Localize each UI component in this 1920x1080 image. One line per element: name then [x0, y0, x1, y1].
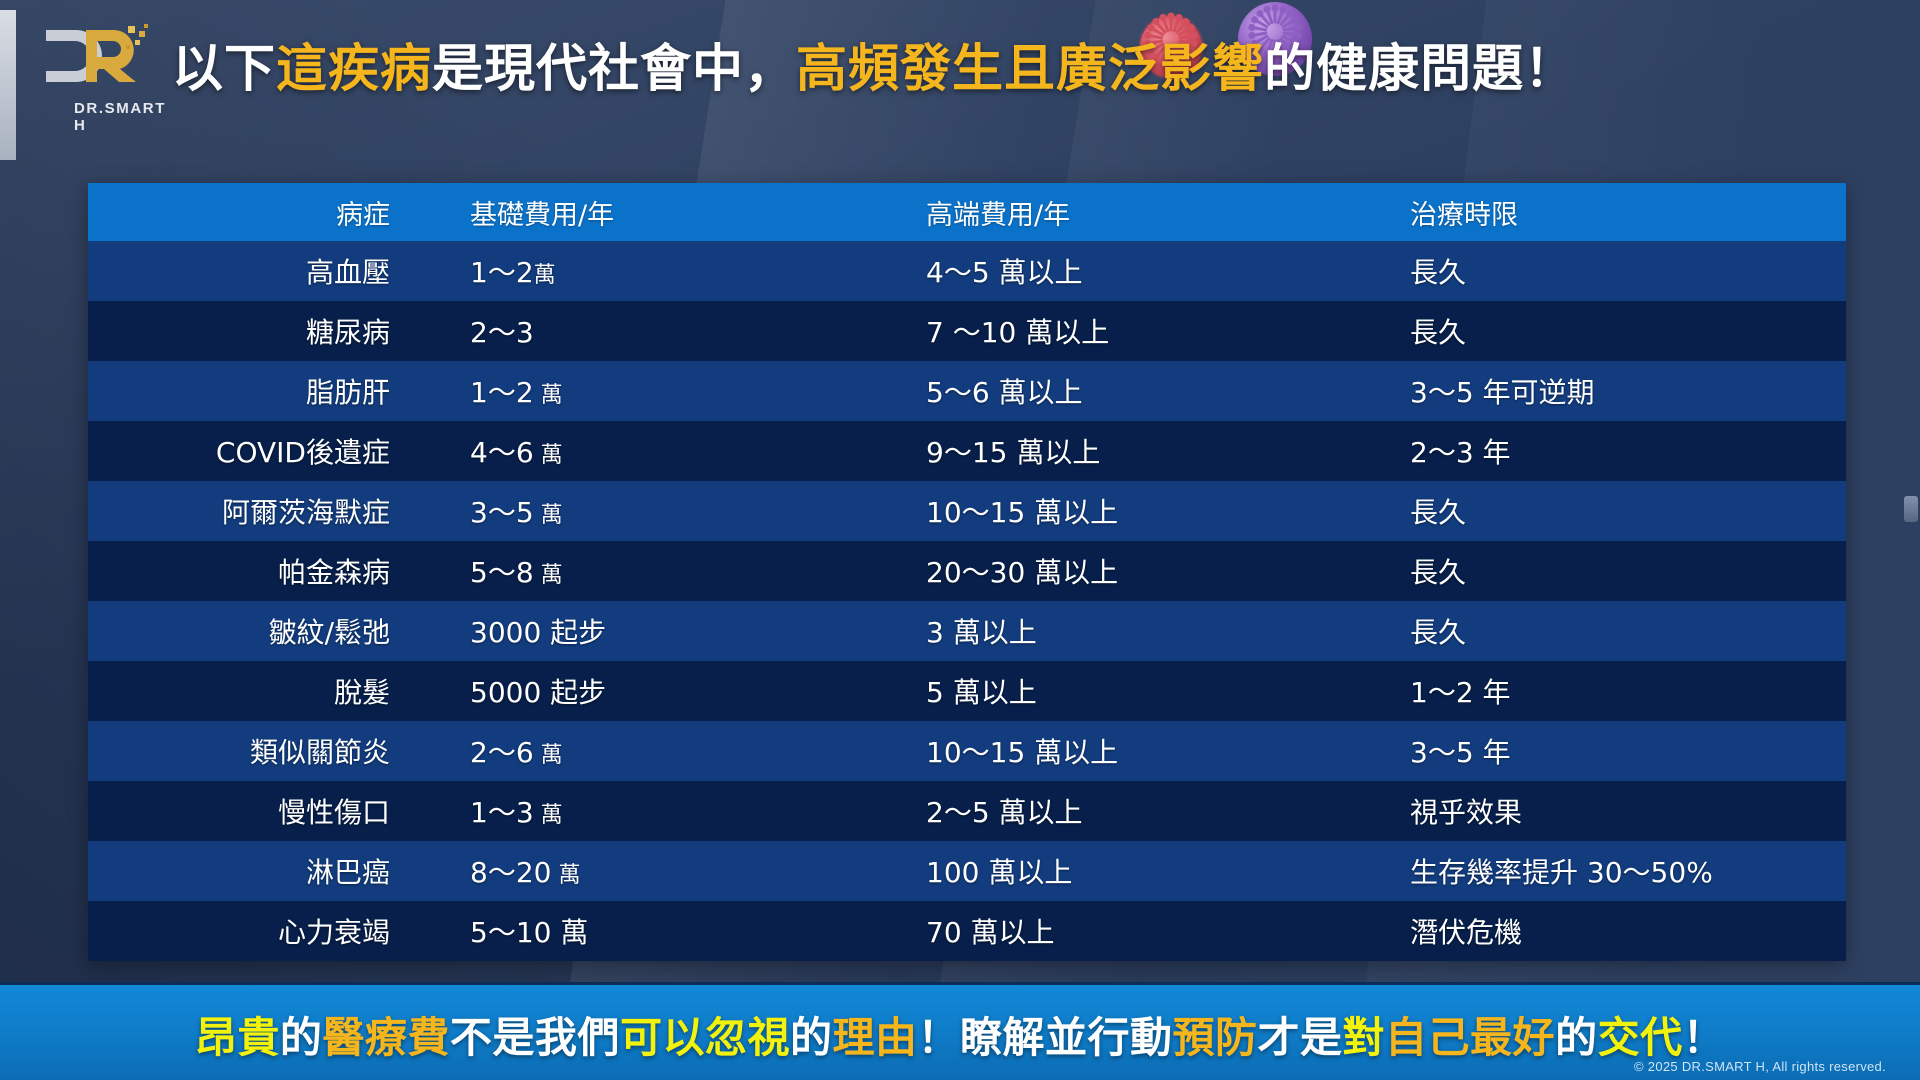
cell-duration: 1～2 年	[1388, 661, 1846, 721]
base-cost-segment: 2	[516, 256, 534, 289]
base-cost-segment: 2～	[470, 736, 516, 769]
base-cost-segment: 3～	[470, 496, 516, 529]
high-cost-segment: 70	[926, 916, 962, 949]
base-cost-segment: 5	[516, 496, 534, 529]
title-segment: 以下	[172, 40, 276, 99]
banner-segment: 醫療費	[322, 1013, 450, 1062]
base-cost-segment: 萬	[551, 863, 580, 888]
duration-segment: 3～5 年	[1410, 736, 1511, 769]
banner-segment: 不是我們	[450, 1013, 620, 1062]
cell-disease-name: 帕金森病	[88, 541, 448, 601]
cell-high-cost: 10～15 萬以上	[868, 721, 1388, 781]
duration-segment: 危機	[1466, 916, 1522, 949]
cell-base-cost: 1～3 萬	[448, 781, 868, 841]
cell-disease-name: 慢性傷口	[88, 781, 448, 841]
duration-segment: 長久	[1410, 556, 1466, 589]
copyright-text: © 2025 DR.SMART H, All rights reserved.	[1634, 1059, 1886, 1074]
duration-segment: 長久	[1410, 616, 1466, 649]
cell-high-cost: 4～5 萬以上	[868, 241, 1388, 301]
cell-high-cost: 9～15 萬以上	[868, 421, 1388, 481]
banner-segment: 的	[1555, 1013, 1598, 1062]
cell-high-cost: 100 萬以上	[868, 841, 1388, 901]
high-cost-segment: 萬以上	[990, 796, 1083, 829]
high-cost-segment: 萬以上	[944, 616, 1037, 649]
base-cost-segment: 2～	[470, 316, 516, 349]
duration-segment: 30～50%	[1578, 856, 1713, 889]
dr-smart-h-logo-icon	[40, 22, 170, 100]
base-cost-segment: 1～	[470, 376, 516, 409]
base-cost-segment: 8	[516, 556, 534, 589]
high-cost-segment: 5	[972, 256, 990, 289]
high-cost-segment: 9～	[926, 436, 972, 469]
cell-duration: 生存幾率提升 30～50%	[1388, 841, 1846, 901]
cell-disease-name: 淋巴癌	[88, 841, 448, 901]
cell-duration: 3～5 年	[1388, 721, 1846, 781]
table-row: 脂肪肝1～2 萬5～6 萬以上3～5 年可逆期	[88, 361, 1846, 421]
cell-base-cost: 1～2萬	[448, 241, 868, 301]
high-cost-segment: 15	[990, 496, 1026, 529]
table-row: 皺紋/鬆弛3000 起步3 萬以上長久	[88, 601, 1846, 661]
base-cost-segment: 萬	[534, 803, 563, 828]
column-header-high-cost: 高端費用/年	[868, 183, 1388, 241]
table-row: 脫髮5000 起步5 萬以上1～2 年	[88, 661, 1846, 721]
cell-disease-name: 糖尿病	[88, 301, 448, 361]
high-cost-segment: 萬以上	[1025, 496, 1118, 529]
base-cost-segment: 5～	[470, 916, 516, 949]
duration-segment: 長久	[1410, 496, 1466, 529]
high-cost-segment: 20～	[926, 556, 990, 589]
cell-base-cost: 3～5 萬	[448, 481, 868, 541]
base-cost-segment: 1～	[470, 256, 516, 289]
cell-high-cost: 10～15 萬以上	[868, 481, 1388, 541]
table-row: 帕金森病5～8 萬20～30 萬以上長久	[88, 541, 1846, 601]
high-cost-segment: 萬以上	[990, 256, 1083, 289]
banner-segment: 的	[790, 1013, 833, 1062]
cell-base-cost: 5000 起步	[448, 661, 868, 721]
column-header-disease: 病症	[88, 183, 448, 241]
table-body: 高血壓1～2萬4～5 萬以上長久糖尿病2～37 ～10 萬以上長久脂肪肝1～2 …	[88, 241, 1846, 961]
table-row: 淋巴癌8～20 萬100 萬以上生存幾率提升 30～50%	[88, 841, 1846, 901]
cell-duration: 視乎效果	[1388, 781, 1846, 841]
base-cost-segment: 萬	[534, 743, 563, 768]
high-cost-segment: 15	[990, 736, 1026, 769]
base-cost-segment: 10 萬	[516, 916, 589, 949]
title-segment: 高頻發生且廣泛影響	[796, 40, 1264, 99]
cell-duration: 2～3 年	[1388, 421, 1846, 481]
cell-disease-name: 心力衰竭	[88, 901, 448, 961]
column-header-base-cost: 基礎費用/年	[448, 183, 868, 241]
base-cost-segment: 5000 起步	[470, 676, 606, 709]
duration-segment: 生存幾率	[1410, 856, 1522, 889]
high-cost-segment: 3	[926, 616, 944, 649]
duration-segment: 提升	[1522, 856, 1578, 889]
high-cost-segment: 萬以上	[1007, 436, 1100, 469]
base-cost-segment: 3	[516, 796, 534, 829]
title-segment: 是現代社會中，	[432, 40, 796, 99]
edge-artifact	[1904, 496, 1918, 522]
logo-wordmark: DR.SMART H	[74, 100, 170, 134]
base-cost-segment: 3	[516, 316, 534, 349]
cell-disease-name: 高血壓	[88, 241, 448, 301]
banner-segment: 自己最好	[1385, 1013, 1555, 1062]
banner-segment: 理由	[832, 1013, 917, 1062]
table-row: 糖尿病2～37 ～10 萬以上長久	[88, 301, 1846, 361]
high-cost-segment: 15	[972, 436, 1008, 469]
high-cost-segment: 5	[926, 676, 944, 709]
left-accent-bar	[0, 10, 16, 160]
base-cost-segment: 萬	[534, 503, 563, 528]
table-row: 心力衰竭5～10 萬70 萬以上潛伏危機	[88, 901, 1846, 961]
cell-high-cost: 5～6 萬以上	[868, 361, 1388, 421]
column-header-duration: 治療時限	[1388, 183, 1846, 241]
base-cost-segment: 4～	[470, 436, 516, 469]
high-cost-segment: 10～	[926, 736, 990, 769]
base-cost-segment: 1～	[470, 796, 516, 829]
cell-duration: 長久	[1388, 481, 1846, 541]
high-cost-segment: 4～	[926, 256, 972, 289]
cell-disease-name: 脫髮	[88, 661, 448, 721]
base-cost-segment: 萬	[534, 563, 563, 588]
bottom-banner-text: 昂貴的醫療費不是我們可以忽視的理由！瞭解並行動預防才是對自己最好的交代！	[195, 1004, 1725, 1065]
cell-disease-name: 阿爾茨海默症	[88, 481, 448, 541]
cell-base-cost: 5～10 萬	[448, 901, 868, 961]
table-row: COVID後遺症4～6 萬9～15 萬以上2～3 年	[88, 421, 1846, 481]
cell-disease-name: 皺紋/鬆弛	[88, 601, 448, 661]
base-cost-segment: 6	[516, 736, 534, 769]
base-cost-segment: 20	[516, 856, 552, 889]
banner-segment: 對	[1343, 1013, 1386, 1062]
cell-base-cost: 3000 起步	[448, 601, 868, 661]
slide-header: DR.SMART H 以下這疾病是現代社會中，高頻發生且廣泛影響的健康問題！	[0, 0, 1920, 150]
high-cost-segment: 100	[926, 856, 979, 889]
high-cost-segment: 10～	[926, 496, 990, 529]
base-cost-segment: 2	[516, 376, 534, 409]
high-cost-segment: 10	[981, 316, 1017, 349]
high-cost-segment: 萬以上	[1025, 736, 1118, 769]
banner-segment: 預防	[1173, 1013, 1258, 1062]
banner-segment: 可以忽視	[620, 1013, 790, 1062]
base-cost-segment: 3000 起步	[470, 616, 606, 649]
cell-disease-name: 類似關節炎	[88, 721, 448, 781]
high-cost-segment: 2～	[926, 796, 972, 829]
banner-segment: 才是	[1258, 1013, 1343, 1062]
banner-segment: ！	[1683, 1013, 1726, 1062]
high-cost-segment: 6	[972, 376, 990, 409]
cell-base-cost: 4～6 萬	[448, 421, 868, 481]
cell-base-cost: 2～3	[448, 301, 868, 361]
cell-disease-name: 脂肪肝	[88, 361, 448, 421]
high-cost-segment: 萬以上	[944, 676, 1037, 709]
high-cost-segment: 5	[972, 796, 990, 829]
cell-high-cost: 3 萬以上	[868, 601, 1388, 661]
cell-high-cost: 20～30 萬以上	[868, 541, 1388, 601]
high-cost-segment: 萬以上	[979, 856, 1072, 889]
high-cost-segment: 萬以上	[990, 376, 1083, 409]
base-cost-segment: 5～	[470, 556, 516, 589]
high-cost-segment: 萬以上	[1025, 556, 1118, 589]
base-cost-segment: 萬	[534, 383, 563, 408]
page-title: 以下這疾病是現代社會中，高頻發生且廣泛影響的健康問題！	[172, 44, 1576, 95]
cell-base-cost: 1～2 萬	[448, 361, 868, 421]
banner-segment: 昂貴	[195, 1013, 280, 1062]
bottom-banner: 昂貴的醫療費不是我們可以忽視的理由！瞭解並行動預防才是對自己最好的交代！ © 2…	[0, 982, 1920, 1080]
base-cost-segment: 8～	[470, 856, 516, 889]
high-cost-segment: 30	[990, 556, 1026, 589]
base-cost-segment: 6	[516, 436, 534, 469]
cell-base-cost: 5～8 萬	[448, 541, 868, 601]
duration-segment: 長久	[1410, 316, 1466, 349]
brand-logo: DR.SMART H	[40, 22, 170, 122]
base-cost-segment: 萬	[534, 263, 556, 288]
bottom-banner-inner: 昂貴的醫療費不是我們可以忽視的理由！瞭解並行動預防才是對自己最好的交代！	[0, 985, 1920, 1080]
cell-high-cost: 70 萬以上	[868, 901, 1388, 961]
table-header-row: 病症 基礎費用/年 高端費用/年 治療時限	[88, 183, 1846, 241]
table-row: 高血壓1～2萬4～5 萬以上長久	[88, 241, 1846, 301]
cell-high-cost: 2～5 萬以上	[868, 781, 1388, 841]
cell-high-cost: 7 ～10 萬以上	[868, 301, 1388, 361]
cell-duration: 長久	[1388, 301, 1846, 361]
table-row: 阿爾茨海默症3～5 萬10～15 萬以上長久	[88, 481, 1846, 541]
high-cost-segment: 7 ～	[926, 316, 981, 349]
high-cost-segment: 萬以上	[962, 916, 1055, 949]
cell-high-cost: 5 萬以上	[868, 661, 1388, 721]
banner-segment: ！瞭解並行動	[917, 1013, 1172, 1062]
banner-segment: 交代	[1598, 1013, 1683, 1062]
cell-duration: 長久	[1388, 541, 1846, 601]
banner-segment: 的	[280, 1013, 323, 1062]
duration-segment: 2～3 年	[1410, 436, 1511, 469]
duration-segment: 長久	[1410, 256, 1466, 289]
base-cost-segment: 萬	[534, 443, 563, 468]
cell-duration: 潛伏危機	[1388, 901, 1846, 961]
title-segment: 的健康問題！	[1264, 40, 1576, 99]
cell-base-cost: 2～6 萬	[448, 721, 868, 781]
cell-base-cost: 8～20 萬	[448, 841, 868, 901]
high-cost-segment: 5～	[926, 376, 972, 409]
duration-segment: 3～5 年	[1410, 376, 1511, 409]
cell-duration: 長久	[1388, 601, 1846, 661]
cell-duration: 長久	[1388, 241, 1846, 301]
cell-duration: 3～5 年可逆期	[1388, 361, 1846, 421]
disease-cost-table: 病症 基礎費用/年 高端費用/年 治療時限 高血壓1～2萬4～5 萬以上長久糖尿…	[88, 183, 1846, 961]
table-row: 慢性傷口1～3 萬2～5 萬以上視乎效果	[88, 781, 1846, 841]
duration-segment: 1～2 年	[1410, 676, 1511, 709]
table-row: 類似關節炎2～6 萬10～15 萬以上3～5 年	[88, 721, 1846, 781]
title-segment: 這疾病	[276, 40, 432, 99]
duration-segment: 可逆期	[1511, 376, 1595, 409]
duration-segment: 視乎效果	[1410, 796, 1522, 829]
cell-disease-name: COVID後遺症	[88, 421, 448, 481]
table-header: 病症 基礎費用/年 高端費用/年 治療時限	[88, 183, 1846, 241]
duration-segment: 潛伏	[1410, 916, 1466, 949]
high-cost-segment: 萬以上	[1016, 316, 1109, 349]
